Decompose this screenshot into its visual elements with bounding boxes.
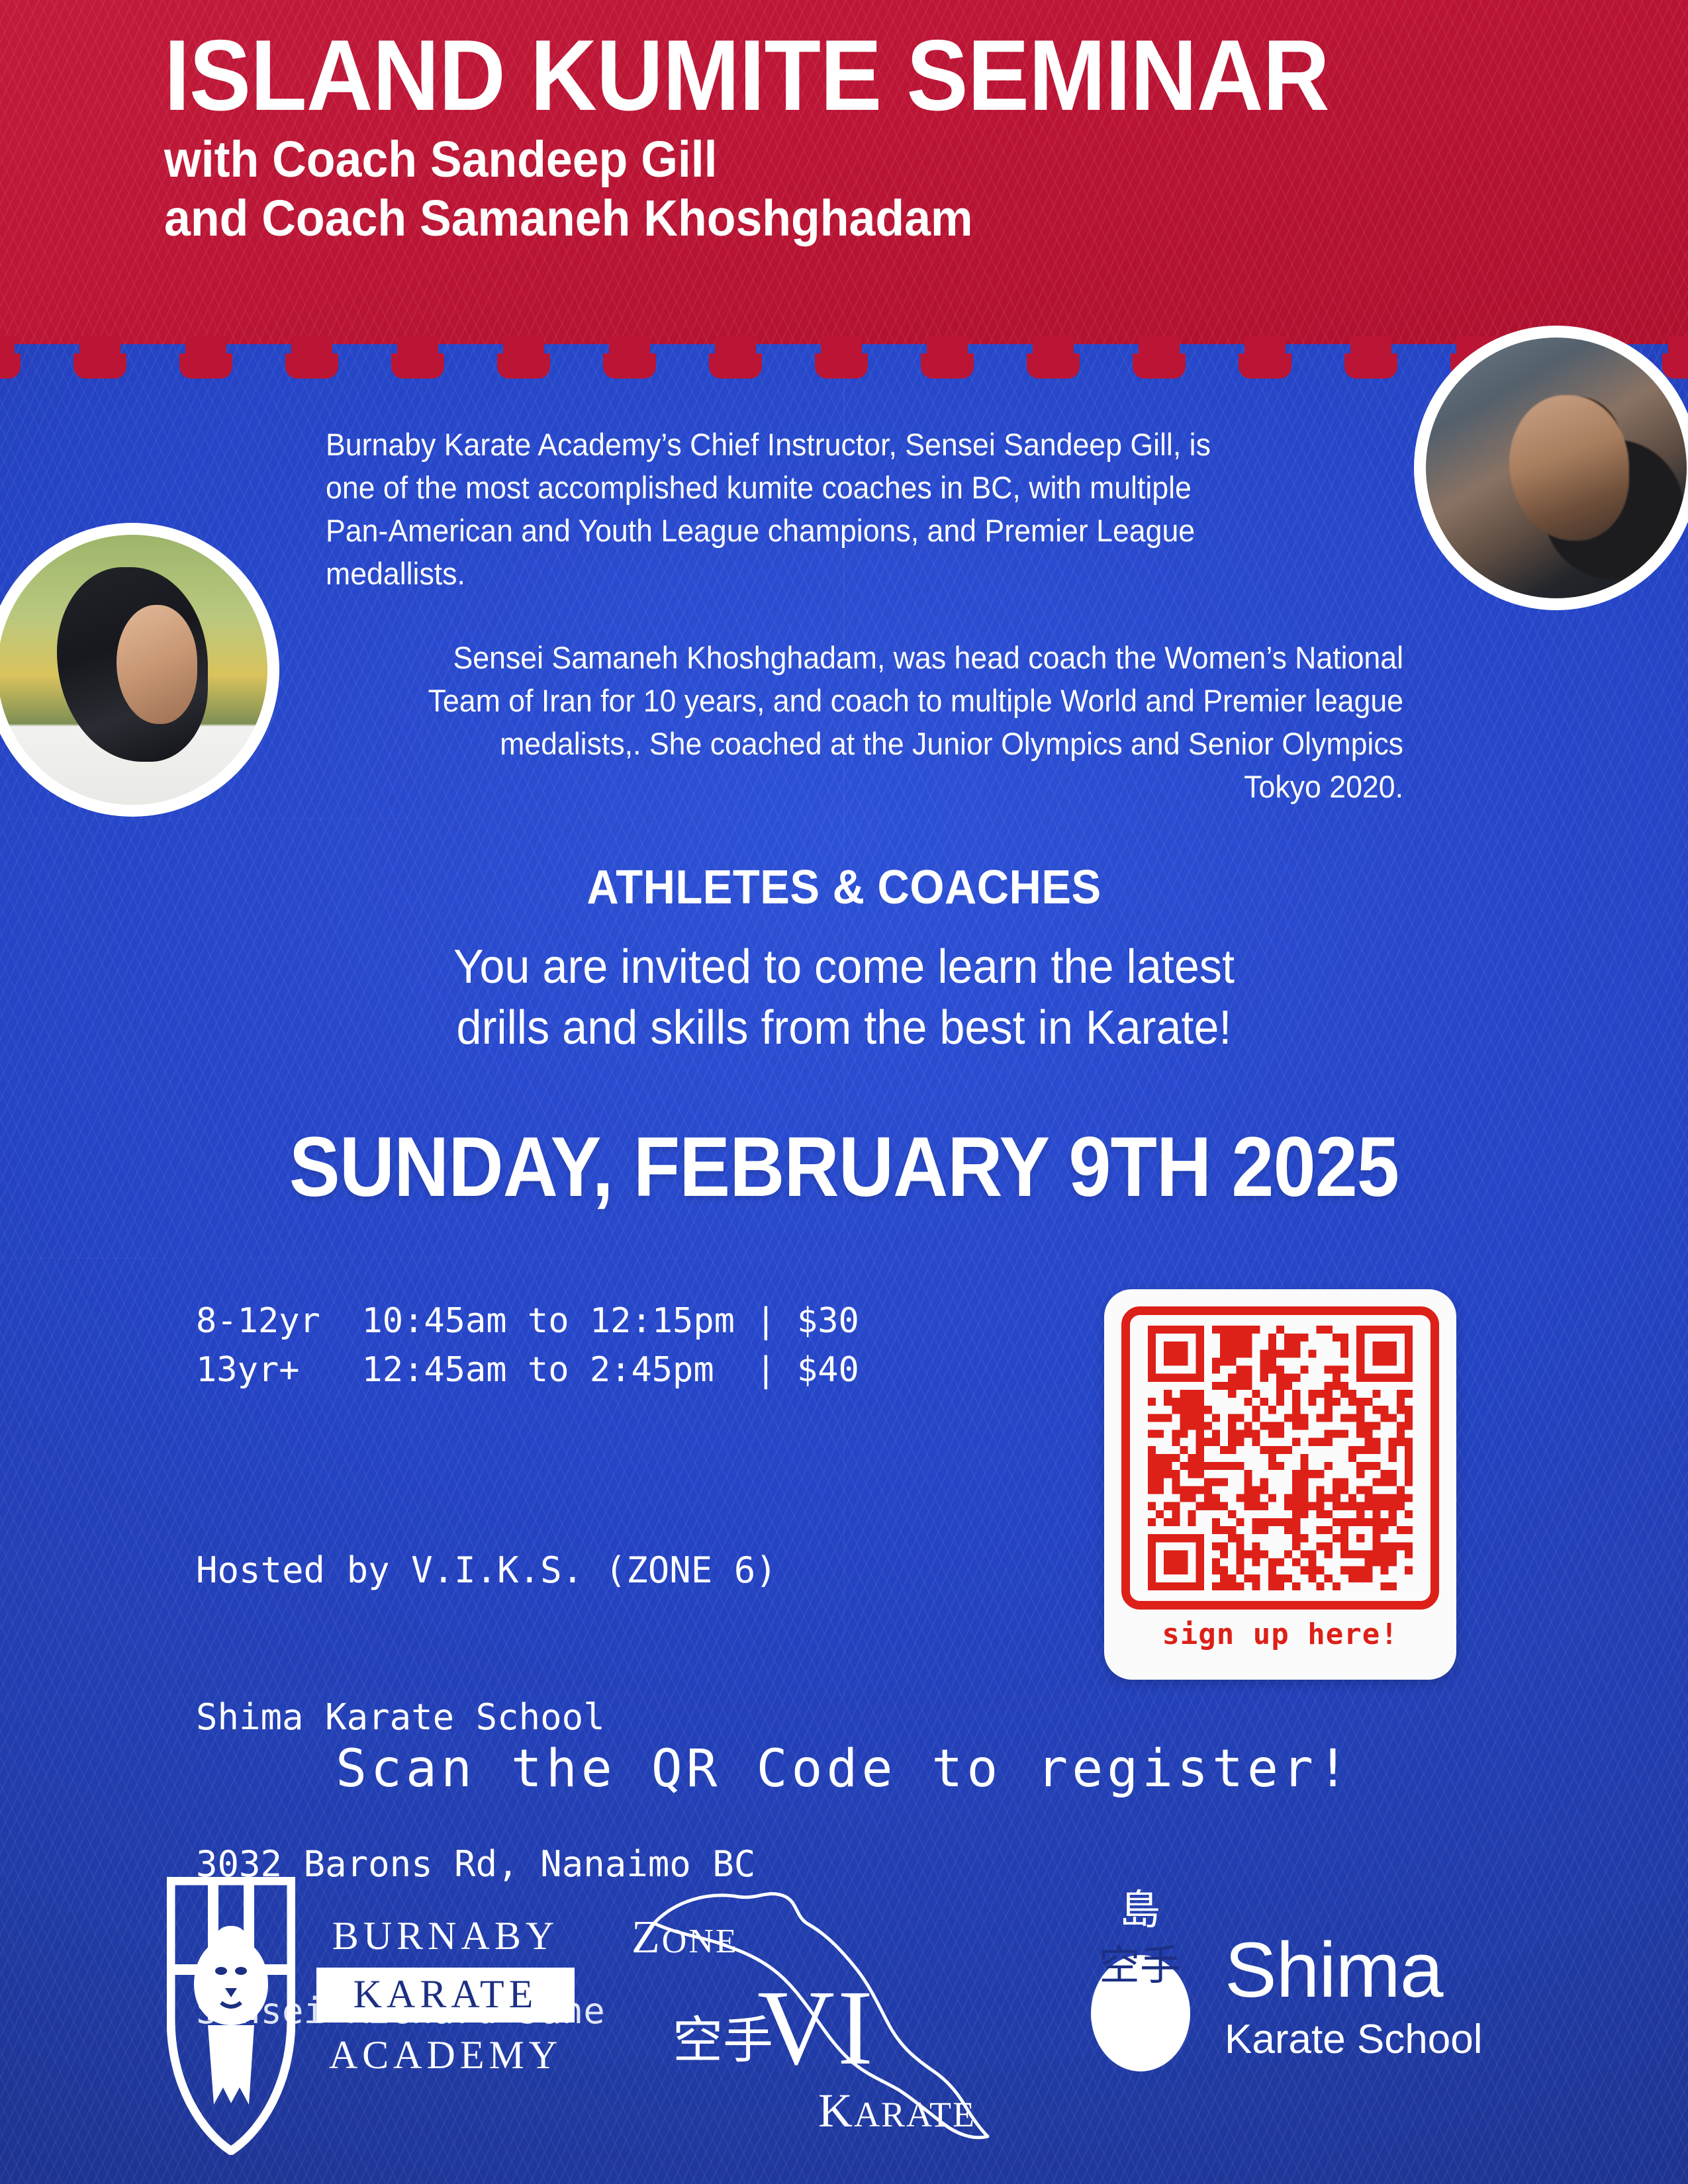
mat-tooth bbox=[821, 336, 862, 379]
qr-code-icon[interactable] bbox=[1121, 1306, 1439, 1610]
mat-tooth bbox=[503, 336, 544, 379]
schedule-block: 8-12yr 10:45am to 12:15pm | $30 13yr+ 12… bbox=[196, 1297, 859, 1395]
logo-zone-vi-karate: ZONE VI 空手 KARATE bbox=[616, 1860, 1046, 2164]
page-title: ISLAND KUMITE SEMINAR bbox=[164, 25, 1413, 126]
karate-cap: K bbox=[818, 2084, 854, 2137]
mat-tooth bbox=[1033, 336, 1074, 379]
mat-tooth bbox=[1139, 336, 1180, 379]
enso-circle-kanji-icon: 島 空手 道 bbox=[1080, 1882, 1199, 2140]
qr-code-matrix bbox=[1141, 1326, 1420, 1590]
bka-line-1: BURNABY bbox=[316, 1911, 575, 1961]
karate-rest: ARATE bbox=[854, 2095, 976, 2134]
venue-host: Hosted by V.I.K.S. (ZONE 6) bbox=[196, 1546, 777, 1595]
qr-signup-card[interactable]: sign up here! bbox=[1104, 1289, 1456, 1680]
avatar-image bbox=[0, 535, 267, 805]
zone-wordmark: ZONE bbox=[632, 1911, 739, 1964]
invitation-line-1: You are invited to come learn the latest bbox=[42, 936, 1646, 997]
shima-kanji-bottom: 道 bbox=[1080, 1993, 1199, 2048]
mat-tooth bbox=[1350, 336, 1391, 379]
puzzle-mat-teeth-divider bbox=[0, 336, 1688, 392]
mat-tooth bbox=[397, 336, 438, 379]
bka-wordmark: BURNABY KARATE ACADEMY bbox=[316, 1911, 575, 2080]
scan-cta-text: Scan the QR Code to register! bbox=[0, 1739, 1688, 1799]
header-text-block: ISLAND KUMITE SEMINAR with Coach Sandeep… bbox=[164, 25, 1521, 248]
avatar-coach-sandeep-gill bbox=[1414, 326, 1688, 610]
avatar-coach-samaneh-khoshghadam bbox=[0, 523, 279, 817]
bka-line-3: ACADEMY bbox=[316, 2030, 575, 2080]
poster-header-banner: ISLAND KUMITE SEMINAR with Coach Sandeep… bbox=[0, 0, 1688, 344]
logo-burnaby-karate-academy: BURNABY KARATE ACADEMY bbox=[167, 1873, 577, 2158]
shima-wordmark: Shima Karate School bbox=[1225, 1931, 1482, 2067]
shima-kanji-mid: 空手 bbox=[1080, 1938, 1199, 1993]
mat-tooth bbox=[185, 336, 226, 379]
avatar-image bbox=[1426, 338, 1687, 598]
invitation-line-2: drills and skills from the best in Karat… bbox=[42, 997, 1646, 1058]
audience-heading: ATHLETES & COACHES bbox=[59, 860, 1629, 915]
header-subtitle-line-1: with Coach Sandeep Gill bbox=[164, 131, 1427, 189]
bio-paragraph-sandeep-gill: Burnaby Karate Academy’s Chief Instructo… bbox=[326, 424, 1219, 595]
shima-kanji-column: 島 空手 道 bbox=[1080, 1882, 1199, 2048]
sponsor-logo-row: BURNABY KARATE ACADEMY ZONE VI 空手 KARATE… bbox=[0, 1860, 1688, 2171]
logo-shima-karate-school: 島 空手 道 Shima Karate School bbox=[1074, 1876, 1537, 2154]
mat-tooth bbox=[927, 336, 968, 379]
zone-roman-numeral: VI bbox=[757, 1967, 876, 2090]
zone-cap: Z bbox=[632, 1912, 662, 1963]
zone-rest: ONE bbox=[662, 1923, 739, 1960]
shima-line-2: Karate School bbox=[1225, 2013, 1482, 2067]
mat-tooth bbox=[79, 336, 120, 379]
header-subtitle-line-2: and Coach Samaneh Khoshghadam bbox=[164, 190, 1427, 248]
mat-tooth bbox=[1244, 336, 1286, 379]
event-date-heading: SUNDAY, FEBRUARY 9TH 2025 bbox=[85, 1118, 1604, 1216]
invitation-text: You are invited to come learn the latest… bbox=[42, 936, 1646, 1058]
mat-tooth bbox=[1668, 336, 1688, 379]
mat-tooth bbox=[715, 336, 756, 379]
bio-paragraph-samaneh-khoshghadam: Sensei Samaneh Khoshghadam, was head coa… bbox=[422, 637, 1403, 808]
mat-tooth bbox=[609, 336, 650, 379]
bka-line-2-highlight: KARATE bbox=[316, 1968, 575, 2023]
lion-shield-icon bbox=[167, 1877, 295, 2155]
mat-tooth bbox=[0, 336, 15, 379]
shima-kanji-top: 島 bbox=[1080, 1882, 1199, 1938]
zone-karate-wordmark: KARATE bbox=[818, 2083, 976, 2138]
shima-line-1: Shima bbox=[1225, 1931, 1482, 2009]
qr-caption: sign up here! bbox=[1121, 1617, 1439, 1651]
venue-name: Shima Karate School bbox=[196, 1693, 777, 1742]
bka-line-2: KARATE bbox=[316, 1972, 575, 2017]
zone-kanji-karate: 空手 bbox=[673, 2013, 773, 2068]
mat-tooth bbox=[291, 336, 332, 379]
poster-root: ISLAND KUMITE SEMINAR with Coach Sandeep… bbox=[0, 0, 1688, 2184]
